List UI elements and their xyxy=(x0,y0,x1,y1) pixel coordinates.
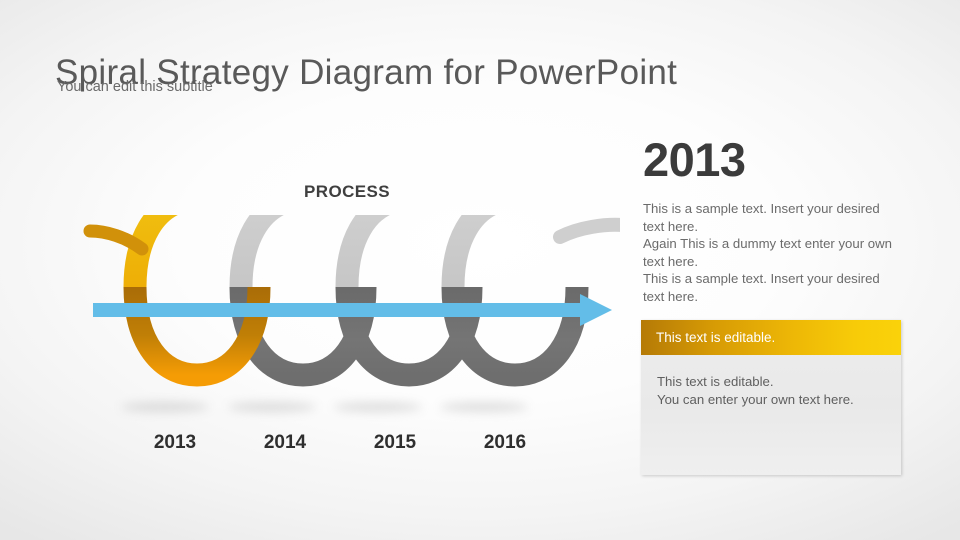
editable-callout-box[interactable]: This text is editable. This text is edit… xyxy=(641,320,901,475)
callout-header[interactable]: This text is editable. xyxy=(641,320,901,355)
process-label: PROCESS xyxy=(247,182,447,202)
spiral-helix-icon xyxy=(60,215,620,430)
year-label-2016: 2016 xyxy=(450,432,560,454)
panel-paragraph-2: Again This is a dummy text enter your ow… xyxy=(643,235,895,270)
helix-tail xyxy=(560,225,620,237)
year-labels: 2013 2014 2015 2016 xyxy=(120,432,560,454)
page-subtitle: You can edit this subtitle xyxy=(57,79,213,95)
year-label-2014: 2014 xyxy=(230,432,340,454)
year-label-2013: 2013 xyxy=(120,432,230,454)
slide-canvas: Spiral Strategy Diagram for PowerPoint Y… xyxy=(0,0,960,540)
panel-year-heading: 2013 xyxy=(643,136,746,183)
callout-body[interactable]: This text is editable. You can enter you… xyxy=(641,355,901,409)
callout-line-1: This text is editable. xyxy=(657,373,887,391)
year-label-2015: 2015 xyxy=(340,432,450,454)
spiral-shadow xyxy=(121,402,528,412)
panel-paragraph-1: This is a sample text. Insert your desir… xyxy=(643,200,895,235)
panel-paragraph-3: This is a sample text. Insert your desir… xyxy=(643,270,895,305)
callout-line-2: You can enter your own text here. xyxy=(657,391,887,409)
panel-description: This is a sample text. Insert your desir… xyxy=(643,200,895,305)
